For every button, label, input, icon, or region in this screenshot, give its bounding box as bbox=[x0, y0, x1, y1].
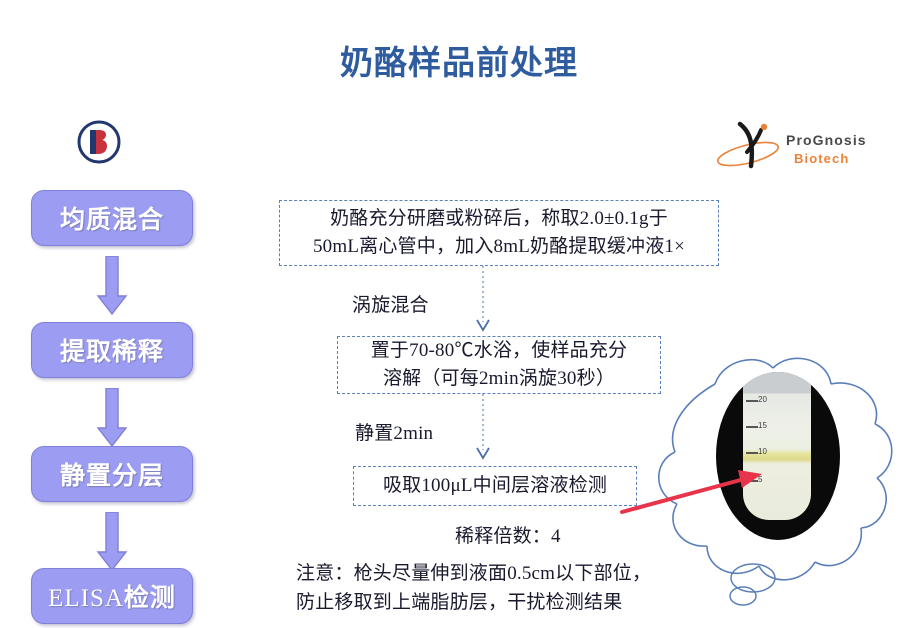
procedure-box-2-text: 置于70-80℃水浴，使样品充分 溶解（可每2min涡旋30秒） bbox=[371, 337, 628, 394]
brand-logo-left-icon bbox=[76, 119, 122, 165]
tube-tick-label: 20 bbox=[758, 395, 767, 404]
procedure-box-1-text: 奶酪充分研磨或粉碎后，称取2.0±0.1g于 50mL离心管中，加入8mL奶酪提… bbox=[313, 205, 685, 262]
flow-step-elisa-detect-label: ELISA检测 bbox=[48, 578, 176, 614]
prognosis-logo-line2: Biotech bbox=[794, 151, 849, 166]
tube-tick bbox=[746, 400, 758, 402]
prognosis-logo: ProGnosis Biotech bbox=[714, 118, 884, 174]
down-arrow-icon bbox=[96, 512, 128, 574]
tube-tick bbox=[746, 452, 758, 454]
red-arrow-icon bbox=[620, 460, 780, 520]
down-arrow-icon bbox=[96, 256, 128, 318]
connector-1 bbox=[476, 266, 490, 334]
connector-label-vortex: 涡旋混合 bbox=[352, 290, 429, 317]
page-title: 奶酪样品前处理 bbox=[0, 36, 918, 84]
procedure-box-2: 置于70-80℃水浴，使样品充分 溶解（可每2min涡旋30秒） bbox=[337, 336, 661, 394]
red-pointer-arrow bbox=[620, 460, 780, 520]
flow-step-settle-layer-label: 静置分层 bbox=[60, 456, 164, 492]
flow-step-elisa-prefix: ELISA bbox=[48, 585, 124, 612]
tube-tick-label: 10 bbox=[758, 447, 767, 456]
connector-label-rest: 静置2min bbox=[355, 418, 433, 445]
flow-step-extract-dilute-label: 提取稀释 bbox=[60, 332, 164, 368]
flow-step-extract-dilute[interactable]: 提取稀释 bbox=[31, 322, 193, 378]
slide-canvas: 奶酪样品前处理 ProGnosis Biotech 均质混合 提取稀释 bbox=[0, 0, 918, 628]
dotted-down-arrow-icon bbox=[476, 394, 490, 462]
down-arrow-icon bbox=[96, 388, 128, 450]
tube-tick-label: 15 bbox=[758, 421, 767, 430]
dilution-factor-label: 稀释倍数：4 bbox=[455, 521, 561, 548]
procedure-note: 注意：枪头尽量伸到液面0.5cm以下部位， 防止移取到上端脂肪层，干扰检测结果 bbox=[296, 560, 651, 617]
tube-tick bbox=[746, 426, 758, 428]
procedure-box-3-text: 吸取100μL中间层溶液检测 bbox=[383, 472, 607, 501]
flow-arrow-2 bbox=[96, 388, 128, 450]
dotted-down-arrow-icon bbox=[476, 266, 490, 334]
procedure-box-1: 奶酪充分研磨或粉碎后，称取2.0±0.1g于 50mL离心管中，加入8mL奶酪提… bbox=[279, 200, 719, 266]
flow-step-settle-layer[interactable]: 静置分层 bbox=[31, 446, 193, 502]
flow-arrow-1 bbox=[96, 256, 128, 318]
flow-step-elisa-suffix: 检测 bbox=[124, 584, 176, 612]
prognosis-logo-line1: ProGnosis bbox=[786, 132, 867, 148]
flow-step-homogenize-label: 均质混合 bbox=[60, 200, 164, 236]
flow-step-homogenize[interactable]: 均质混合 bbox=[31, 190, 193, 246]
procedure-box-3: 吸取100μL中间层溶液检测 bbox=[353, 466, 637, 506]
flow-step-elisa-detect[interactable]: ELISA检测 bbox=[31, 568, 193, 624]
connector-2 bbox=[476, 394, 490, 462]
flow-arrow-3 bbox=[96, 512, 128, 574]
brand-logo-left bbox=[76, 119, 122, 165]
